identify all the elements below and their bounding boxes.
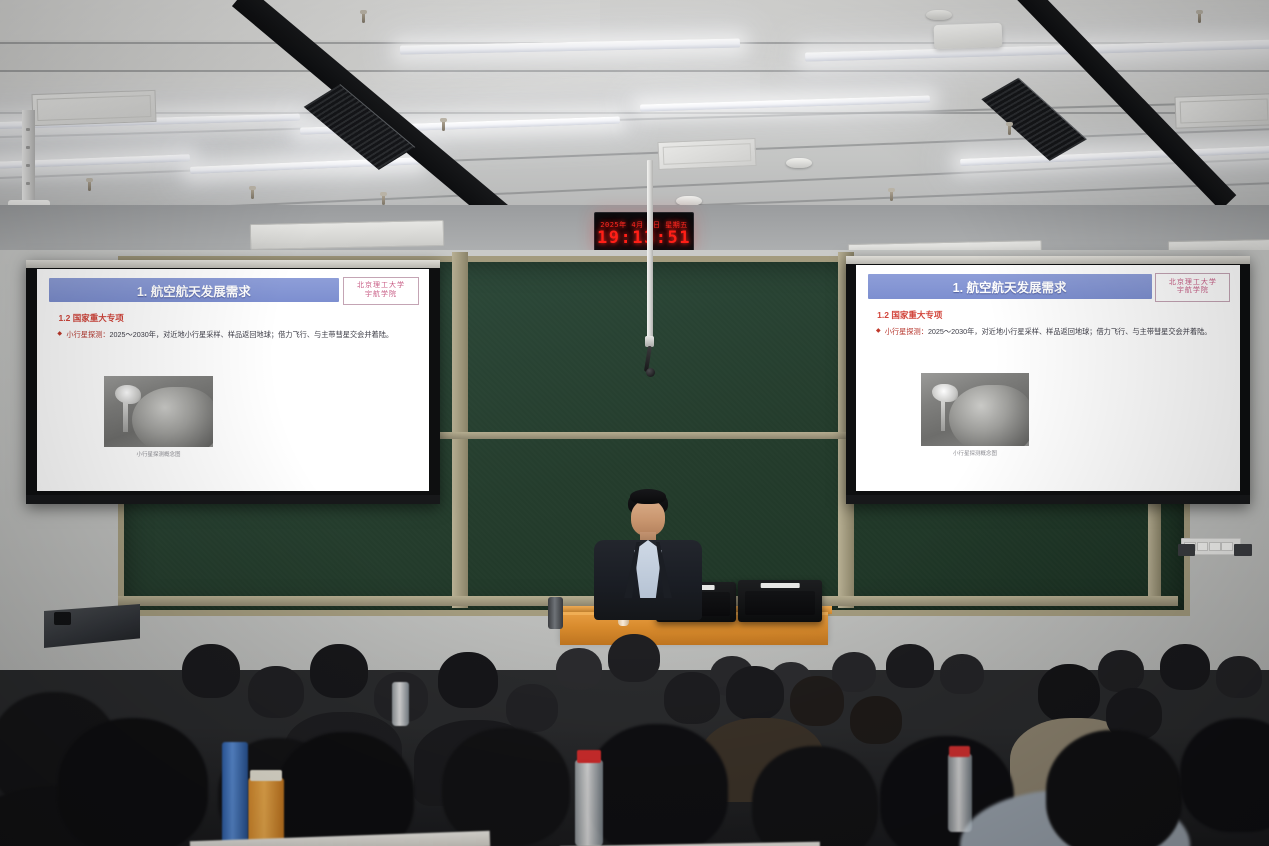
slide-illustration [104,376,214,447]
audience-head [850,696,902,744]
slide-title-bar: 1. 航空航天发展需求 [49,278,339,302]
audience-head [886,644,934,688]
audience-head [506,684,558,732]
presenter-head [631,500,665,536]
ceiling-light-strip [400,38,740,54]
bullet-marker-icon: ◆ [876,327,881,336]
wall-mounted-panel [250,220,445,250]
ceiling-vent [31,90,156,126]
section-label: 国家重大专项 [73,313,124,323]
audience-head-foreground [586,724,728,846]
ceiling-air-grille [981,78,1087,161]
audience-head [726,666,784,720]
audience-head [438,652,498,708]
audience-head [1038,664,1100,722]
slide-illustration [921,373,1029,445]
sprinkler-head [380,192,387,196]
bullet-text: 2025～2030年，对近地小行星采样、样品返回地球；借力飞行、与主带彗星交会并… [110,330,394,339]
logo-line-1: 北京理工大学 [357,282,405,291]
audience-head [608,634,660,682]
microphone-capsule [646,368,655,377]
smoke-detector [926,10,952,20]
slide-title: 1. 航空航天发展需求 [953,277,1067,296]
slide-image-caption: 小行星探测概念图 [104,450,214,458]
audience-head [310,644,368,698]
clock-time: 19:13:51 [597,230,691,247]
screen-top-housing [26,260,440,268]
water-bottle-audience [575,760,603,846]
microphone-pole [647,160,653,340]
lecture-hall-scene: 2025年 4月 4日 星期五 19:13:51 1. 航空航天发展需求 北京理… [0,0,1269,846]
bottle-cap [577,750,601,763]
sprinkler-head [1006,122,1013,126]
water-bottle-audience [948,754,972,832]
digital-wall-clock: 2025年 4月 4日 星期五 19:13:51 [594,212,694,254]
presenter-hair-top [630,489,666,504]
slide-bullet: ◆ 小行星探测：2025～2030年，对近地小行星采样、样品返回地球；借力飞行、… [66,330,413,340]
bullet-text: 2025～2030年，对近地小行星采样、样品返回地球；借力飞行、与主带彗星交会并… [928,327,1212,336]
section-number: 1.2 [877,310,889,320]
audience-head-foreground [752,746,878,846]
projection-screen-left: 1. 航空航天发展需求 北京理工大学 宇航学院 1.2 国家重大专项 ◆ 小行星… [26,260,440,504]
switch-plate-left[interactable] [1178,544,1195,556]
audience-head [790,676,844,726]
slide-title: 1. 航空航天发展需求 [137,281,251,300]
audience-head [1216,656,1262,698]
audience-head [182,644,240,698]
bullet-key: 小行星探测： [66,330,109,339]
audience-head [664,672,720,724]
bullet-marker-icon: ◆ [57,330,62,339]
blackboard-mullion [452,252,468,608]
ceiling-vent [657,138,756,170]
monitor-brand-label [761,583,800,588]
projection-screen-right: 1. 航空航天发展需求 北京理工大学 宇航学院 1.2 国家重大专项 ◆ 小行星… [846,256,1250,504]
ceiling-vent [1174,93,1269,128]
sprinkler-head [86,178,93,182]
audience-head [248,666,304,718]
ceiling [0,0,1269,228]
ceiling-light-strip [960,145,1269,166]
switch-plate-right[interactable] [1234,544,1252,556]
audience-head-foreground [58,718,208,846]
audience-head [556,648,602,690]
university-logo: 北京理工大学 宇航学院 [1155,273,1230,302]
packaged-item-audience [222,742,248,846]
smoke-detector [786,158,812,168]
screen-bottom-bar [846,495,1250,504]
logo-line-2: 宇航学院 [1177,287,1209,296]
sprinkler-head [249,186,256,190]
audience-head [940,654,984,694]
slide-image-caption: 小行星探测概念图 [921,449,1029,457]
logo-line-2: 宇航学院 [365,291,397,300]
audience-head [1098,650,1144,692]
slide-section-heading: 1.2 国家重大专项 [877,309,942,321]
slide-right: 1. 航空航天发展需求 北京理工大学 宇航学院 1.2 国家重大专项 ◆ 小行星… [856,265,1240,491]
screen-top-housing [846,256,1250,264]
audience-head-foreground [442,728,570,846]
juice-bottle-cap [250,770,282,781]
section-label: 国家重大专项 [891,310,942,320]
audience-head [1160,644,1210,690]
juice-bottle-audience [248,778,284,846]
sprinkler-head [440,118,447,122]
audience-head-foreground [276,732,414,846]
slide-section-heading: 1.2 国家重大专项 [59,312,124,324]
sprinkler-head [360,10,367,14]
ceiling-ac-unit [934,23,1003,49]
sprinkler-head [888,188,895,192]
slide-bullet: ◆ 小行星探测：2025～2030年，对近地小行星采样、样品返回地球；借力飞行、… [885,327,1225,337]
university-logo: 北京理工大学 宇航学院 [343,277,419,306]
bottle-cap [949,746,970,757]
bullet-key: 小行星探测： [885,327,928,336]
water-bottle-audience [392,682,409,726]
sprinkler-head [1196,10,1203,14]
section-number: 1.2 [59,313,71,323]
slide-title-bar: 1. 航空航天发展需求 [868,274,1152,299]
screen-bottom-bar [26,495,440,504]
audience [0,600,1269,846]
slide-left: 1. 航空航天发展需求 北京理工大学 宇航学院 1.2 国家重大专项 ◆ 小行星… [37,269,429,491]
audience-head-foreground [1046,730,1182,846]
